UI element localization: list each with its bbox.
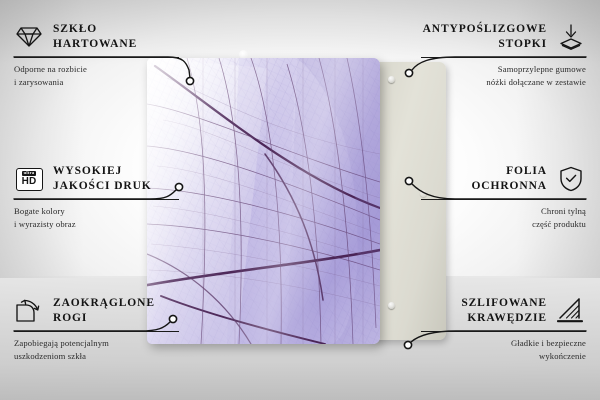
feature-zaokraglone-rogi: ZAOKRĄGLONE ROGI Zapobiegają potencjalny… [14,296,179,362]
rubber-foot [388,76,395,83]
feature-szklo-hartowane: SZKŁO HARTOWANE Odporne na rozbicie i za… [14,22,179,88]
feature-header: ultra HD WYSOKIEJ JAKOŚCI DRUK [14,164,179,194]
feature-header: FOLIA OCHRONNA [421,164,586,194]
product-front-panel [147,58,380,344]
leaf-vein-print [147,58,380,344]
feature-divider [14,57,179,58]
feature-divider [14,331,179,332]
specular-highlight [239,50,248,59]
feature-title: SZKŁO HARTOWANE [53,22,137,51]
feature-divider [421,199,586,200]
feature-description: Samoprzylepne gumowe nóżki dołączane w z… [421,63,586,87]
feature-divider [14,199,179,200]
product-photo [147,58,447,346]
polished-edge-hatch-icon [556,296,586,326]
feature-divider [421,57,586,58]
feature-wysokiej-jakosci-druk: ultra HD WYSOKIEJ JAKOŚCI DRUK Bogate ko… [14,164,179,230]
feature-title: SZLIFOWANE KRAWĘDZIE [461,296,547,325]
infographic-canvas: SZKŁO HARTOWANE Odporne na rozbicie i za… [0,0,600,400]
feature-header: ANTYPOŚLIZGOWE STOPKI [421,22,586,52]
feature-description: Chroni tylną część produktu [421,205,586,229]
feature-title: FOLIA OCHRONNA [471,164,547,193]
feature-title: ANTYPOŚLIZGOWE STOPKI [423,22,547,51]
press-down-pad-icon [556,22,586,52]
feature-description: Odporne na rozbicie i zarysowania [14,63,179,87]
diamond-icon [14,22,44,52]
ultra-hd-badge-icon: ultra HD [14,164,44,194]
feature-header: ZAOKRĄGLONE ROGI [14,296,179,326]
feature-title: WYSOKIEJ JAKOŚCI DRUK [53,164,152,193]
feature-antyposlizgowe-stopki: ANTYPOŚLIZGOWE STOPKI Samoprzylepne gumo… [421,22,586,88]
feature-header: SZKŁO HARTOWANE [14,22,179,52]
feature-description: Gładkie i bezpieczne wykończenie [421,337,586,361]
feature-description: Bogate kolory i wyrazisty obraz [14,205,179,229]
feature-title: ZAOKRĄGLONE ROGI [53,296,155,325]
rounded-corner-icon [14,296,44,326]
feature-header: SZLIFOWANE KRAWĘDZIE [421,296,586,326]
feature-folia-ochronna: FOLIA OCHRONNA Chroni tylną część produk… [421,164,586,230]
feature-szlifowane-krawedzie: SZLIFOWANE KRAWĘDZIE Gładkie i bezpieczn… [421,296,586,362]
feature-description: Zapobiegają potencjalnym uszkodzeniom sz… [14,337,179,361]
feature-divider [421,331,586,332]
shield-check-icon [556,164,586,194]
rubber-foot [388,302,395,309]
